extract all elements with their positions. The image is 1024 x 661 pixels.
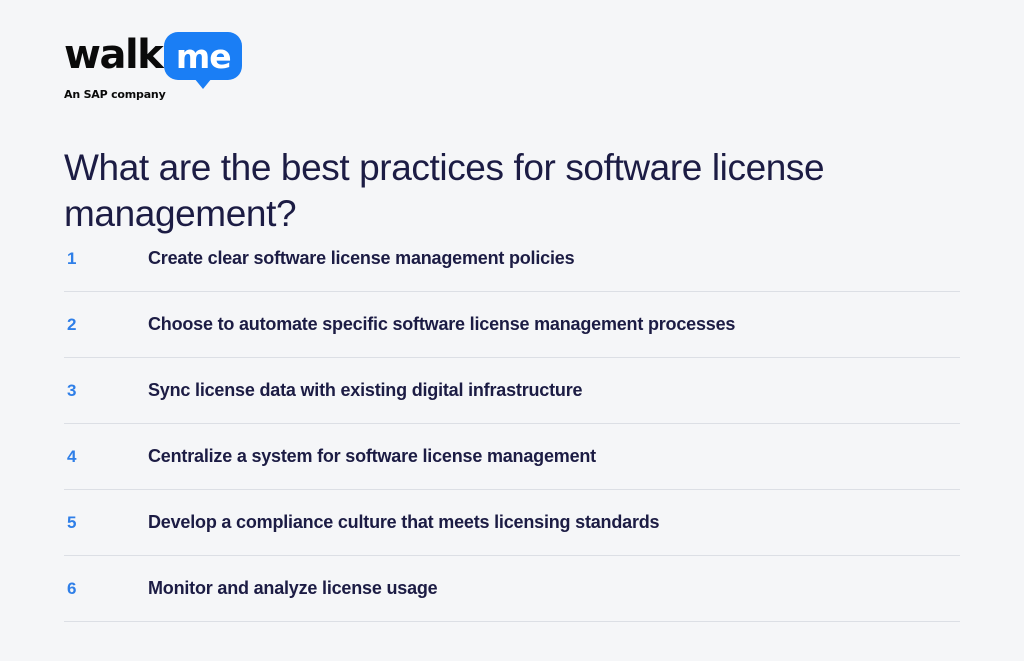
page-title: What are the best practices for software…	[64, 145, 924, 237]
list-item-label: Sync license data with existing digital …	[148, 380, 582, 401]
logo-me-text: me	[176, 40, 231, 73]
list-item-number: 4	[64, 447, 148, 467]
list-item-number: 3	[64, 381, 148, 401]
list-item: 1 Create clear software license manageme…	[64, 226, 960, 292]
list-item-label: Centralize a system for software license…	[148, 446, 596, 467]
list-item-number: 1	[64, 249, 148, 269]
infographic-page: walk me An SAP company What are the best…	[0, 0, 1024, 661]
list-item: 3 Sync license data with existing digita…	[64, 358, 960, 424]
list-item-label: Choose to automate specific software lic…	[148, 314, 735, 335]
list-item: 4 Centralize a system for software licen…	[64, 424, 960, 490]
walkme-logo: walk me An SAP company	[64, 32, 294, 104]
logo-tagline: An SAP company	[64, 88, 294, 101]
list-item-number: 5	[64, 513, 148, 533]
list-item: 2 Choose to automate specific software l…	[64, 292, 960, 358]
list-item-label: Create clear software license management…	[148, 248, 574, 269]
list-item-label: Develop a compliance culture that meets …	[148, 512, 659, 533]
list-item: 5 Develop a compliance culture that meet…	[64, 490, 960, 556]
logo-bubble-tail-icon	[194, 78, 212, 89]
logo-walk-text: walk	[64, 32, 162, 78]
best-practices-list: 1 Create clear software license manageme…	[64, 226, 960, 622]
logo-wordmark-row: walk me	[64, 32, 294, 80]
list-item: 6 Monitor and analyze license usage	[64, 556, 960, 622]
list-item-number: 6	[64, 579, 148, 599]
list-item-number: 2	[64, 315, 148, 335]
list-item-label: Monitor and analyze license usage	[148, 578, 438, 599]
logo-speech-bubble-icon: me	[164, 32, 242, 80]
